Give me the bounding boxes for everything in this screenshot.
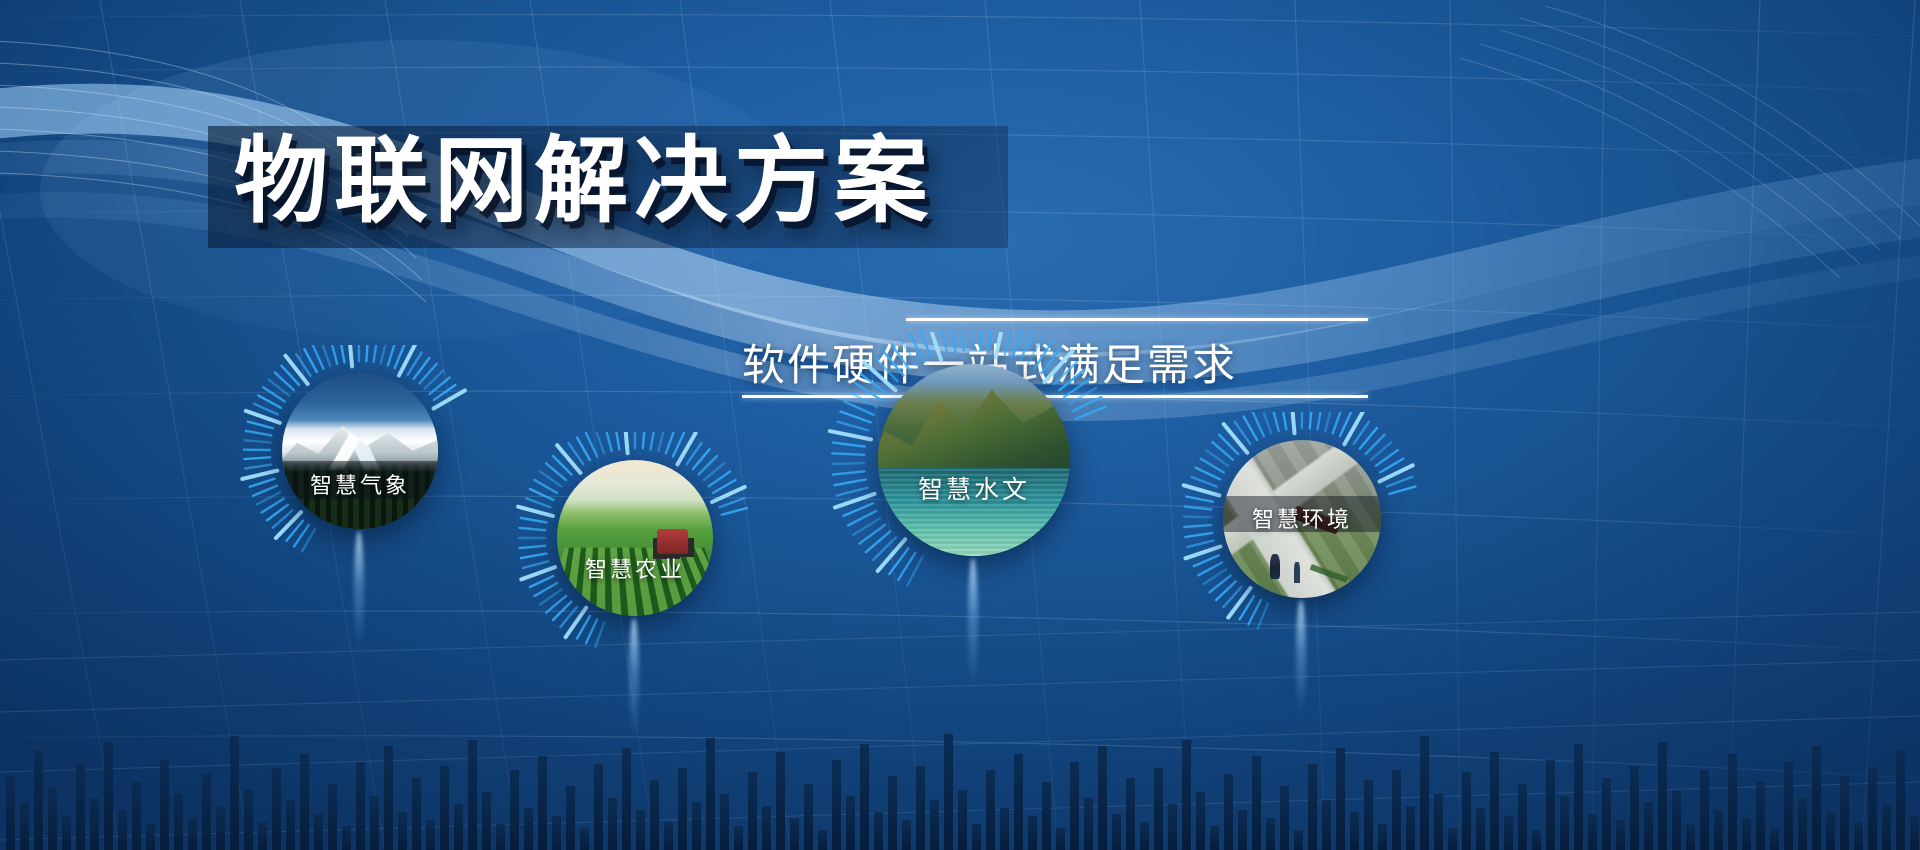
node-hydrology[interactable]: 智慧水文 (818, 332, 1128, 642)
light-beam-hydrology (968, 558, 978, 688)
agriculture-photo-art (557, 460, 713, 616)
node-label-environment: 智慧环境 (1223, 502, 1381, 534)
node-image-environment: 智慧环境 (1223, 440, 1381, 598)
light-beam-environment (1296, 600, 1306, 718)
node-agriculture[interactable]: 智慧农业 (505, 432, 765, 692)
hero-banner: 物联网解决方案 软件硬件一站式满足需求 智慧气象 智慧农业 (0, 0, 1920, 850)
hydrology-photo-art (878, 364, 1070, 556)
node-image-agriculture: 智慧农业 (557, 460, 713, 616)
environment-pedestrians (1270, 554, 1279, 579)
page-title: 物联网解决方案 (234, 124, 994, 239)
light-beam-agriculture (629, 618, 639, 738)
subtitle-rule-top (906, 318, 1368, 321)
node-label-agriculture: 智慧农业 (557, 552, 713, 584)
light-beam-weather (354, 531, 364, 651)
node-environment[interactable]: 智慧环境 (1170, 412, 1434, 676)
node-label-hydrology: 智慧水文 (878, 470, 1070, 506)
node-image-weather: 智慧气象 (282, 373, 438, 529)
data-bar-silhouette (0, 690, 1920, 850)
node-weather[interactable]: 智慧气象 (230, 345, 490, 605)
weather-photo-art (282, 373, 438, 529)
node-label-weather: 智慧气象 (282, 468, 438, 500)
node-image-hydrology: 智慧水文 (878, 364, 1070, 556)
